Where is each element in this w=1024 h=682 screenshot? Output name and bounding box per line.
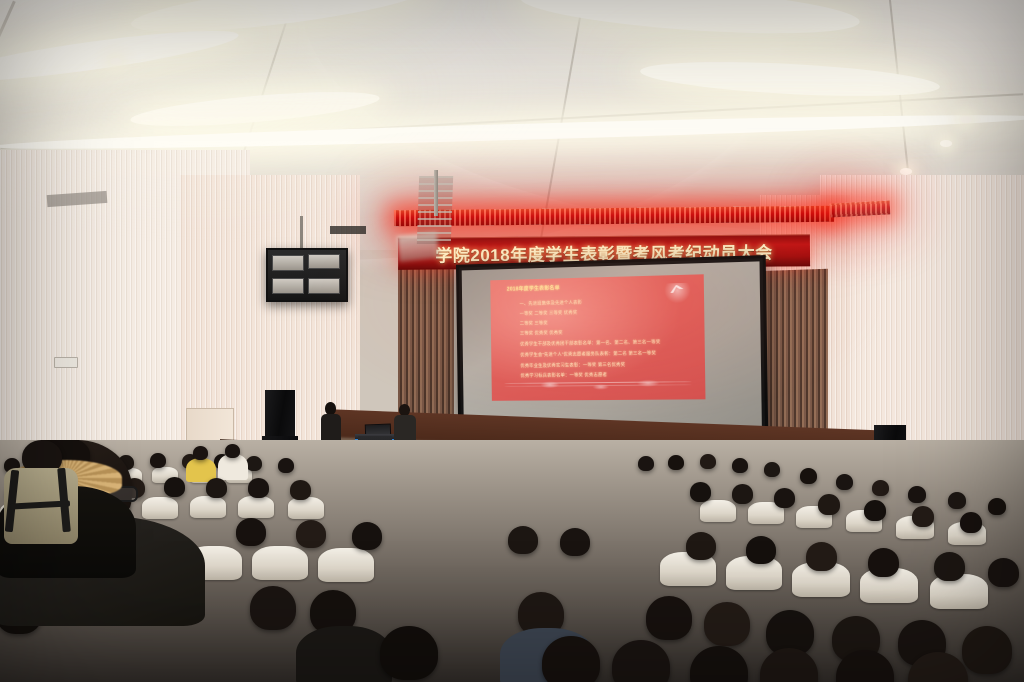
audience-head <box>774 488 795 508</box>
audience-head <box>868 548 899 577</box>
audience-head <box>236 518 266 546</box>
audience-head <box>962 626 1012 674</box>
slide-cloud-ornament <box>491 367 705 396</box>
audience-head <box>732 484 753 504</box>
audience-head <box>746 536 776 564</box>
audience-head <box>686 532 716 560</box>
projected-slide: 2018年度学生表彰名单 一、先进班集体及先进个人表彰 一等奖 二等奖 三等奖 … <box>490 274 705 400</box>
chair <box>252 546 308 580</box>
audience-head <box>912 506 934 527</box>
downlight-icon <box>110 58 122 65</box>
audience-head <box>806 542 837 571</box>
audience-head <box>704 602 750 646</box>
wall-control-plate <box>54 357 78 368</box>
audience-head <box>150 453 166 468</box>
audience-head <box>248 478 269 498</box>
audience-head <box>690 482 711 502</box>
audience-head <box>206 478 227 498</box>
chair <box>190 496 226 518</box>
speaker-left <box>265 390 295 438</box>
audience-head <box>864 500 886 521</box>
projector-rack <box>266 248 348 302</box>
audience-head <box>960 512 982 533</box>
chair <box>930 574 988 609</box>
audience-head <box>250 586 296 630</box>
audience-head <box>732 458 748 473</box>
audience-head <box>988 558 1019 587</box>
audience-head <box>164 477 185 497</box>
audience-head <box>278 458 294 473</box>
audience-head <box>352 522 382 550</box>
slide-line: 二等奖 三等奖 <box>520 320 548 326</box>
audience-head <box>638 456 654 471</box>
audience-head <box>560 528 590 556</box>
institution-crest-icon <box>664 282 691 303</box>
slide-line: 一、先进班集体及先进个人表彰 <box>519 300 582 307</box>
audience-head <box>508 526 538 554</box>
chair <box>142 497 178 519</box>
audience-head <box>668 455 684 470</box>
slide-line: 优秀学生会“先进个人”优秀志愿者服务队表彰：第二名 第三名一等奖 <box>520 350 656 358</box>
audience-head <box>296 520 326 548</box>
chair <box>288 497 324 519</box>
audience-head <box>700 454 716 469</box>
audience-head <box>836 474 853 490</box>
chair <box>700 500 736 522</box>
audience-head <box>290 480 311 500</box>
projector-hanger <box>300 216 303 250</box>
audience-head <box>764 462 780 477</box>
chair <box>318 548 374 582</box>
audience-head <box>542 636 600 682</box>
truss-pole <box>434 170 438 216</box>
audience-head <box>225 444 240 458</box>
audience-head <box>800 468 817 484</box>
audience-head <box>948 492 966 509</box>
audience-head <box>818 494 840 515</box>
audience-head <box>988 498 1006 515</box>
audience-head <box>246 456 262 471</box>
downlight-icon <box>940 140 952 147</box>
chair <box>238 496 274 518</box>
downlight-icon <box>960 116 972 123</box>
slide-line: 一等奖 二等奖 三等奖 优秀奖 <box>520 310 578 317</box>
audience-head <box>872 480 889 496</box>
audience-head <box>934 552 965 581</box>
audience-head <box>646 596 692 640</box>
slide-line: 优秀学生干部及优秀团干部表彰名单：第一名、第二名、第三名一等奖 <box>520 339 660 347</box>
audience-person <box>296 626 392 682</box>
audience <box>0 440 1024 682</box>
audience-head <box>380 626 438 680</box>
audience-head <box>908 486 926 503</box>
slide-line: 三等奖 优秀奖 优秀奖 <box>520 330 563 337</box>
ac-vent <box>330 226 366 234</box>
auditorium-photo: 学院2018年度学生表彰暨考风考纪动员大会 2018年度学生表彰名单 一、先进班… <box>0 0 1024 682</box>
downlight-icon <box>900 168 912 175</box>
audience-head <box>193 446 208 460</box>
slide-title: 2018年度学生表彰名单 <box>507 285 560 293</box>
